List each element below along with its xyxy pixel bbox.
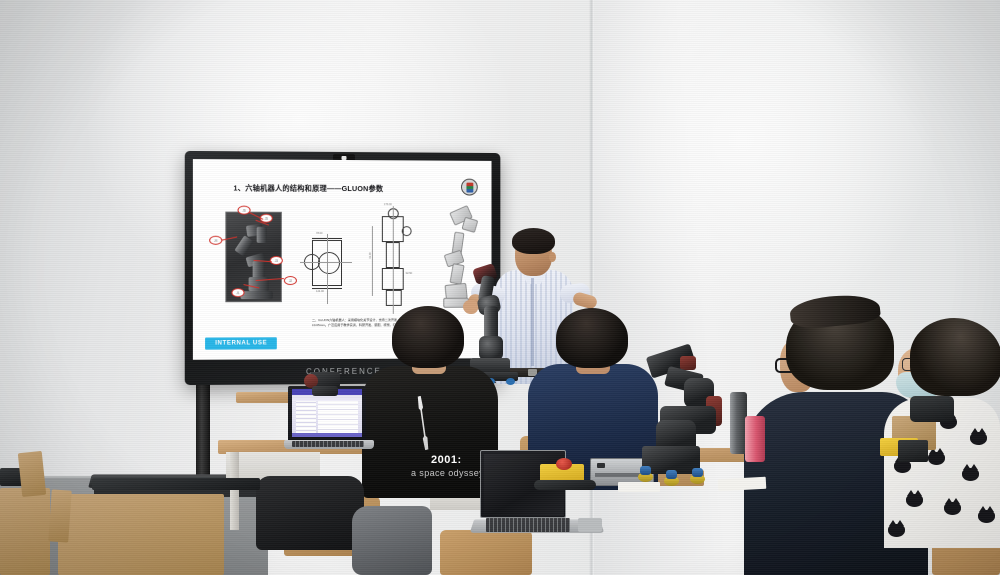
camera-rig-small[interactable] — [304, 366, 352, 400]
presenter-ear — [549, 252, 556, 262]
callout-j6: J6 — [237, 206, 250, 215]
panel-flat-left — [92, 478, 260, 490]
cat-print-icon — [888, 524, 905, 537]
pink-tumbler[interactable] — [745, 416, 765, 462]
box-flap-left — [18, 451, 46, 497]
rig-camera-accent — [680, 356, 696, 370]
robot-suction-foot — [506, 378, 515, 385]
small-rig-base — [312, 386, 338, 396]
black-device-right — [898, 440, 928, 462]
cardboard-box-floor-large — [58, 494, 224, 575]
tee-text-line-2: a space odyssey — [411, 468, 484, 478]
attendee-black-tee-body — [362, 366, 498, 498]
attendee-navy-polo-head — [556, 308, 628, 368]
slide-title: 1、六轴机器人的结构和原理——GLUON参数 — [233, 183, 383, 194]
cat-print-icon — [906, 494, 923, 507]
rig-suction-cup — [692, 468, 703, 477]
held-robot-joint-1 — [479, 336, 503, 360]
gray-jacket — [352, 506, 432, 575]
callout-j2: J2 — [284, 276, 297, 285]
company-logo-icon — [461, 179, 478, 196]
camera-head-right — [910, 396, 954, 422]
cad-side-view: 176.00 92.50 31.00 — [366, 206, 424, 314]
laptop-left-keyboard[interactable] — [292, 441, 364, 447]
presenter-shirt-placket — [531, 278, 534, 366]
emergency-stop-button[interactable] — [556, 458, 572, 470]
table-left-leg — [230, 452, 239, 530]
cat-print-icon — [978, 510, 995, 523]
laptop-center-trackpad[interactable] — [578, 518, 602, 532]
rig-suction-cup — [640, 466, 651, 475]
chair-center[interactable] — [440, 530, 532, 575]
cat-print-icon — [928, 452, 945, 465]
tee-text-line-1: 2001: — [431, 454, 462, 466]
classroom-scene: 1、六轴机器人的结构和原理——GLUON参数 J6 J5 J4 J3 J2 — [0, 0, 1000, 575]
cable-bundle — [534, 480, 596, 490]
black-backpack — [256, 476, 364, 550]
callout-j1: J1 — [231, 288, 244, 297]
presenter-left-hand — [463, 300, 478, 314]
attendee-black-tee-head — [392, 306, 464, 368]
cardboard-box-floor-small — [0, 488, 50, 575]
cat-print-icon — [962, 468, 979, 481]
cat-print-icon — [970, 432, 987, 445]
rig-suction-cup — [666, 470, 677, 479]
internal-use-badge: INTERNAL USE — [205, 337, 277, 349]
cat-print-icon — [944, 502, 961, 515]
box-flap-center — [48, 489, 72, 542]
presenter-hair — [512, 228, 555, 254]
laptop-center-keyboard[interactable] — [486, 518, 570, 532]
cad-front-view: 78.00 124.00 — [300, 234, 352, 304]
held-robot-link-1 — [484, 306, 498, 340]
attendee-masked-head — [910, 318, 1000, 396]
